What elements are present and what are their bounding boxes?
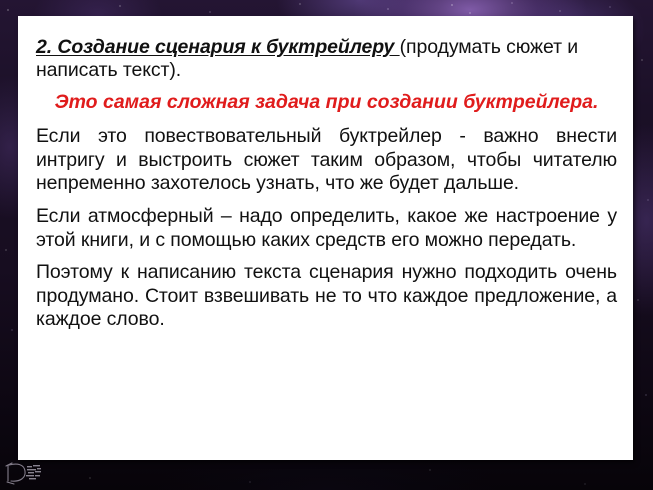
emphasis-note: Это самая сложная задача при создании бу… bbox=[36, 91, 617, 114]
slide-content-card: 2. Создание сценария к буктрейлеру (прод… bbox=[18, 16, 633, 460]
body-paragraph-2: Если атмосферный – надо определить, како… bbox=[36, 205, 617, 252]
body-paragraph-3: Поэтому к написанию текста сценария нужн… bbox=[36, 261, 617, 332]
heading-emphasized-text: 2. Создание сценария к буктрейлеру bbox=[36, 36, 400, 58]
body-paragraph-1: Если это повествовательный буктрейлер - … bbox=[36, 125, 617, 196]
presentation-slide: 2. Создание сценария к буктрейлеру (прод… bbox=[0, 0, 653, 490]
slide-heading: 2. Создание сценария к буктрейлеру (прод… bbox=[36, 36, 617, 83]
